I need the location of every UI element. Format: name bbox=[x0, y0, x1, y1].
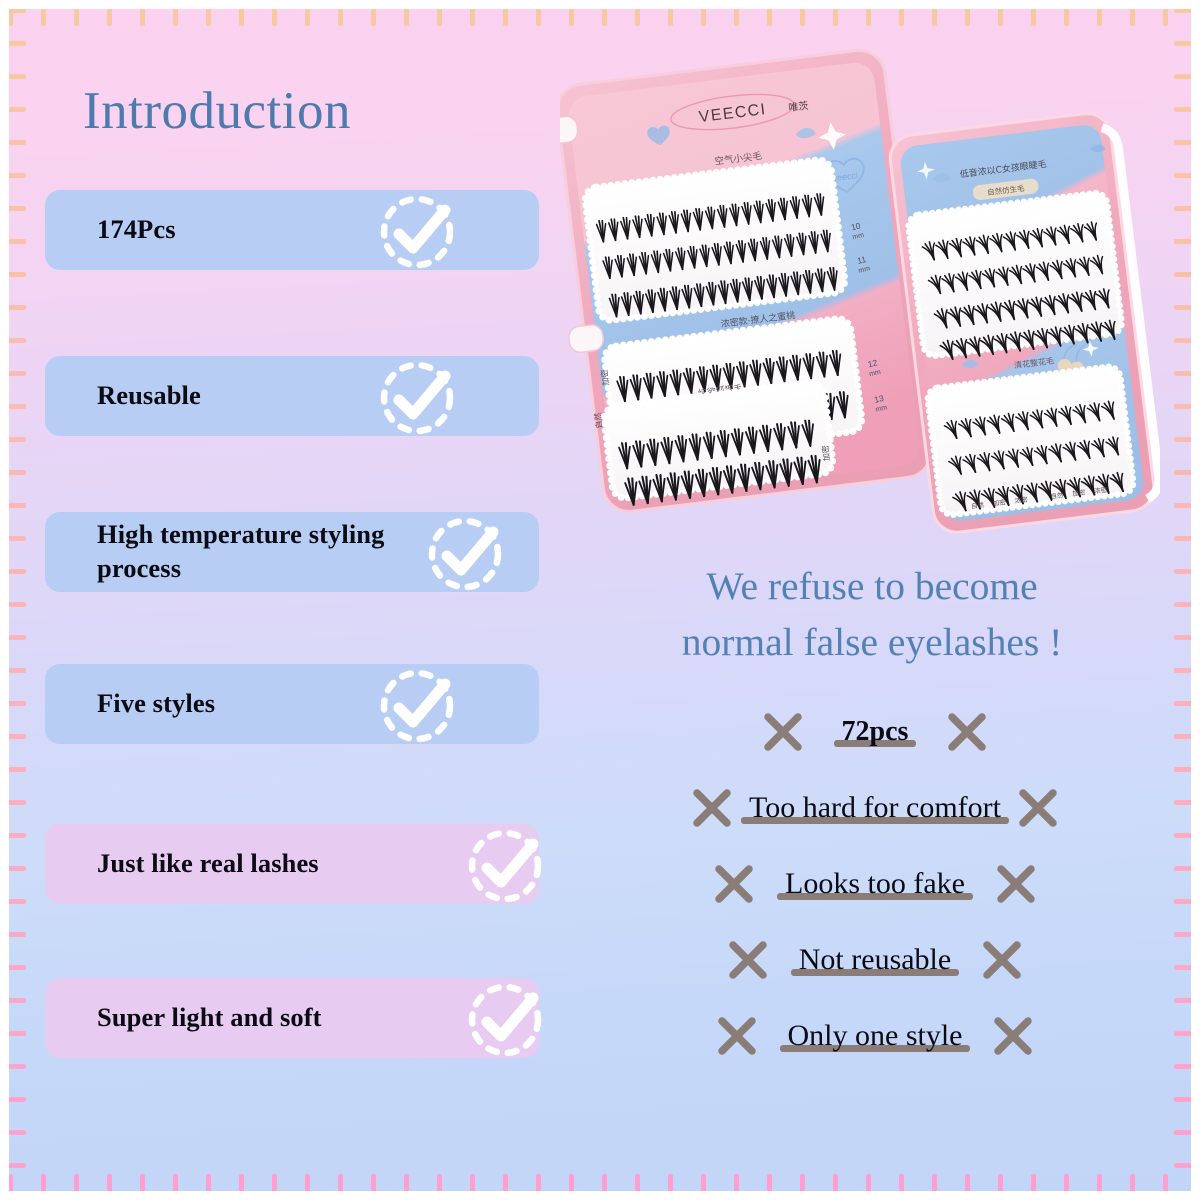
border-tick bbox=[0, 602, 26, 607]
border-tick bbox=[569, 0, 574, 26]
border-tick bbox=[74, 1174, 79, 1200]
x-mark-icon bbox=[1015, 785, 1061, 831]
negative-label: Looks too fake bbox=[785, 867, 965, 900]
svg-text:加密: 加密 bbox=[599, 369, 611, 386]
border-tick bbox=[0, 41, 26, 46]
border-tick bbox=[272, 0, 277, 26]
negative-text-wrap: Looks too fake bbox=[779, 867, 971, 901]
feature-pill-label: 174Pcs bbox=[97, 213, 176, 247]
border-tick bbox=[503, 1174, 508, 1200]
border-tick bbox=[1163, 0, 1168, 26]
border-tick bbox=[1163, 1174, 1168, 1200]
border-tick bbox=[1174, 965, 1200, 970]
border-tick bbox=[635, 0, 640, 26]
border-tick bbox=[437, 1174, 442, 1200]
border-tick bbox=[0, 1064, 26, 1069]
border-tick bbox=[470, 1174, 475, 1200]
feature-pill[interactable]: Reusable bbox=[45, 356, 539, 436]
refuse-headline: We refuse to become normal false eyelash… bbox=[622, 558, 1122, 670]
border-tick bbox=[107, 0, 112, 26]
border-tick bbox=[0, 899, 26, 904]
feature-pill[interactable]: Five styles bbox=[45, 664, 539, 744]
border-tick bbox=[0, 1163, 26, 1168]
border-tick bbox=[1174, 800, 1200, 805]
svg-text:加密: 加密 bbox=[992, 497, 1006, 508]
introduction-header: Introduction bbox=[45, 84, 545, 140]
border-tick bbox=[0, 338, 26, 343]
border-tick bbox=[239, 0, 244, 26]
border-tick bbox=[965, 0, 970, 26]
border-tick bbox=[503, 0, 508, 26]
border-tick bbox=[1174, 1064, 1200, 1069]
border-tick bbox=[635, 1174, 640, 1200]
border-tick bbox=[767, 0, 772, 26]
border-tick bbox=[701, 1174, 706, 1200]
x-mark-icon bbox=[711, 861, 757, 907]
border-tick bbox=[1174, 701, 1200, 706]
border-tick bbox=[1174, 74, 1200, 79]
svg-text:自然: 自然 bbox=[592, 412, 604, 429]
feature-pill[interactable]: 174Pcs bbox=[45, 190, 539, 270]
negative-row: Not reusable bbox=[640, 922, 1110, 998]
border-tick bbox=[1174, 1130, 1200, 1135]
border-tick bbox=[932, 1174, 937, 1200]
border-tick bbox=[41, 1174, 46, 1200]
svg-text:自然: 自然 bbox=[1050, 490, 1064, 501]
border-tick bbox=[0, 404, 26, 409]
negative-text-wrap: 72pcs bbox=[836, 716, 915, 748]
border-tick bbox=[1174, 206, 1200, 211]
border-tick bbox=[0, 107, 26, 112]
border-tick bbox=[0, 371, 26, 376]
feature-pill-label: Reusable bbox=[97, 379, 201, 413]
border-tick bbox=[1174, 239, 1200, 244]
border-tick bbox=[734, 1174, 739, 1200]
border-tick bbox=[371, 0, 376, 26]
border-tick bbox=[1174, 899, 1200, 904]
x-mark-icon bbox=[725, 937, 771, 983]
border-tick bbox=[0, 437, 26, 442]
border-tick bbox=[1174, 866, 1200, 871]
border-tick bbox=[140, 1174, 145, 1200]
border-tick bbox=[206, 0, 211, 26]
border-tick bbox=[1130, 1174, 1135, 1200]
border-tick bbox=[140, 0, 145, 26]
border-tick bbox=[1130, 0, 1135, 26]
border-tick bbox=[338, 0, 343, 26]
border-tick bbox=[866, 1174, 871, 1200]
border-tick bbox=[1174, 272, 1200, 277]
border-tick bbox=[0, 239, 26, 244]
svg-text:加密: 加密 bbox=[1072, 487, 1086, 498]
x-mark-icon bbox=[714, 1013, 760, 1059]
border-tick bbox=[173, 0, 178, 26]
border-tick bbox=[41, 0, 46, 26]
border-tick bbox=[899, 0, 904, 26]
poster-root: Introduction 174PcsReusableHigh temperat… bbox=[0, 0, 1200, 1200]
border-tick bbox=[404, 1174, 409, 1200]
border-tick bbox=[0, 932, 26, 937]
border-tick bbox=[1174, 107, 1200, 112]
border-tick bbox=[1174, 767, 1200, 772]
negative-list: 72pcsToo hard for comfortLooks too fakeN… bbox=[640, 694, 1110, 1074]
border-tick bbox=[569, 1174, 574, 1200]
x-mark-icon bbox=[979, 937, 1025, 983]
border-tick bbox=[8, 0, 13, 26]
border-tick bbox=[536, 0, 541, 26]
border-tick bbox=[371, 1174, 376, 1200]
border-tick bbox=[668, 0, 673, 26]
border-tick bbox=[800, 1174, 805, 1200]
svg-text:加密: 加密 bbox=[820, 445, 832, 462]
border-tick bbox=[998, 0, 1003, 26]
border-tick bbox=[1174, 437, 1200, 442]
border-tick bbox=[1174, 503, 1200, 508]
border-tick bbox=[0, 668, 26, 673]
feature-pill[interactable]: Just like real lashes bbox=[45, 824, 539, 904]
negative-label: 72pcs bbox=[842, 716, 909, 747]
product-photo-lash-case: VEECCI 唯茨 veecci 空气小尖毛 bbox=[560, 30, 1160, 540]
border-tick bbox=[1174, 470, 1200, 475]
negative-text-wrap: Not reusable bbox=[793, 943, 957, 977]
negative-label: Only one style bbox=[788, 1019, 963, 1052]
x-mark-icon bbox=[689, 785, 735, 831]
border-tick bbox=[470, 0, 475, 26]
border-tick bbox=[1174, 8, 1200, 13]
border-tick bbox=[1064, 0, 1069, 26]
border-tick bbox=[0, 206, 26, 211]
border-tick bbox=[536, 1174, 541, 1200]
border-tick bbox=[899, 1174, 904, 1200]
border-tick bbox=[206, 1174, 211, 1200]
x-mark-icon bbox=[993, 861, 1039, 907]
border-tick bbox=[272, 1174, 277, 1200]
border-tick bbox=[0, 767, 26, 772]
border-tick bbox=[0, 866, 26, 871]
border-tick bbox=[0, 173, 26, 178]
border-tick bbox=[1174, 635, 1200, 640]
negative-label: Too hard for comfort bbox=[749, 791, 1001, 824]
border-tick bbox=[1174, 338, 1200, 343]
border-tick bbox=[1174, 998, 1200, 1003]
border-tick bbox=[0, 74, 26, 79]
border-tick bbox=[0, 701, 26, 706]
border-tick bbox=[1174, 1163, 1200, 1168]
border-tick bbox=[0, 734, 26, 739]
border-tick bbox=[437, 0, 442, 26]
border-tick bbox=[338, 1174, 343, 1200]
border-tick bbox=[0, 833, 26, 838]
border-tick bbox=[8, 1174, 13, 1200]
border-tick bbox=[404, 0, 409, 26]
poster-canvas: Introduction 174PcsReusableHigh temperat… bbox=[0, 0, 1200, 1200]
border-tick bbox=[0, 1130, 26, 1135]
border-tick bbox=[965, 1174, 970, 1200]
border-tick bbox=[1031, 1174, 1036, 1200]
border-tick bbox=[1174, 734, 1200, 739]
border-tick bbox=[602, 0, 607, 26]
border-tick bbox=[0, 8, 26, 13]
border-tick bbox=[1174, 173, 1200, 178]
border-tick bbox=[833, 1174, 838, 1200]
border-tick bbox=[305, 0, 310, 26]
negative-row: Looks too fake bbox=[640, 846, 1110, 922]
x-mark-icon bbox=[944, 709, 990, 755]
border-tick bbox=[0, 536, 26, 541]
negative-text-wrap: Too hard for comfort bbox=[743, 791, 1007, 825]
feature-pill-label: Five styles bbox=[97, 687, 215, 721]
headline-line-1: We refuse to become bbox=[622, 558, 1122, 614]
svg-text:浓密: 浓密 bbox=[1014, 495, 1028, 506]
border-tick bbox=[1064, 1174, 1069, 1200]
border-tick bbox=[1174, 41, 1200, 46]
border-tick bbox=[0, 800, 26, 805]
border-tick bbox=[305, 1174, 310, 1200]
svg-text:浓密: 浓密 bbox=[1094, 485, 1108, 496]
negative-row: Too hard for comfort bbox=[640, 770, 1110, 846]
border-tick bbox=[734, 0, 739, 26]
feature-pill[interactable]: Super light and soft bbox=[45, 978, 539, 1058]
border-tick bbox=[0, 569, 26, 574]
border-tick bbox=[1174, 1097, 1200, 1102]
page-title: Introduction bbox=[83, 84, 545, 140]
border-tick bbox=[107, 1174, 112, 1200]
border-tick bbox=[1174, 404, 1200, 409]
border-tick bbox=[173, 1174, 178, 1200]
border-tick bbox=[1031, 0, 1036, 26]
border-tick bbox=[1174, 305, 1200, 310]
border-tick bbox=[0, 140, 26, 145]
x-mark-icon bbox=[990, 1013, 1036, 1059]
border-tick bbox=[1174, 932, 1200, 937]
border-tick bbox=[701, 0, 706, 26]
border-tick bbox=[998, 1174, 1003, 1200]
check-circle-dashed-icon bbox=[423, 510, 507, 594]
border-tick bbox=[0, 1097, 26, 1102]
border-tick bbox=[1174, 371, 1200, 376]
border-tick bbox=[668, 1174, 673, 1200]
border-tick bbox=[866, 0, 871, 26]
negative-row: Only one style bbox=[640, 998, 1110, 1074]
border-tick bbox=[1174, 602, 1200, 607]
border-tick bbox=[1097, 0, 1102, 26]
border-tick bbox=[0, 470, 26, 475]
border-tick bbox=[1174, 1031, 1200, 1036]
border-tick bbox=[1174, 833, 1200, 838]
border-tick bbox=[74, 0, 79, 26]
border-tick bbox=[0, 305, 26, 310]
feature-pill-label: High temperature styling process bbox=[97, 518, 397, 586]
border-tick bbox=[0, 272, 26, 277]
feature-pill-label: Super light and soft bbox=[97, 1001, 322, 1035]
check-circle-dashed-icon bbox=[463, 976, 547, 1060]
border-tick bbox=[932, 0, 937, 26]
check-circle-dashed-icon bbox=[463, 822, 547, 906]
negative-label: Not reusable bbox=[799, 943, 951, 976]
border-tick bbox=[1174, 140, 1200, 145]
border-tick bbox=[833, 0, 838, 26]
border-tick bbox=[767, 1174, 772, 1200]
check-circle-dashed-icon bbox=[375, 188, 459, 272]
border-tick bbox=[1174, 536, 1200, 541]
border-tick bbox=[0, 998, 26, 1003]
border-tick bbox=[1174, 569, 1200, 574]
feature-pill-label: Just like real lashes bbox=[97, 847, 319, 881]
border-tick bbox=[0, 1031, 26, 1036]
check-circle-dashed-icon bbox=[375, 662, 459, 746]
border-tick bbox=[1174, 668, 1200, 673]
negative-row: 72pcs bbox=[640, 694, 1110, 770]
check-circle-dashed-icon bbox=[375, 354, 459, 438]
negative-text-wrap: Only one style bbox=[782, 1019, 969, 1053]
feature-pill[interactable]: High temperature styling process bbox=[45, 512, 539, 592]
border-tick bbox=[0, 503, 26, 508]
border-tick bbox=[1097, 1174, 1102, 1200]
border-tick bbox=[0, 635, 26, 640]
border-tick bbox=[602, 1174, 607, 1200]
headline-line-2: normal false eyelashes ! bbox=[622, 614, 1122, 670]
border-tick bbox=[800, 0, 805, 26]
border-tick bbox=[0, 965, 26, 970]
border-tick bbox=[239, 1174, 244, 1200]
svg-text:自然: 自然 bbox=[970, 500, 984, 511]
x-mark-icon bbox=[760, 709, 806, 755]
